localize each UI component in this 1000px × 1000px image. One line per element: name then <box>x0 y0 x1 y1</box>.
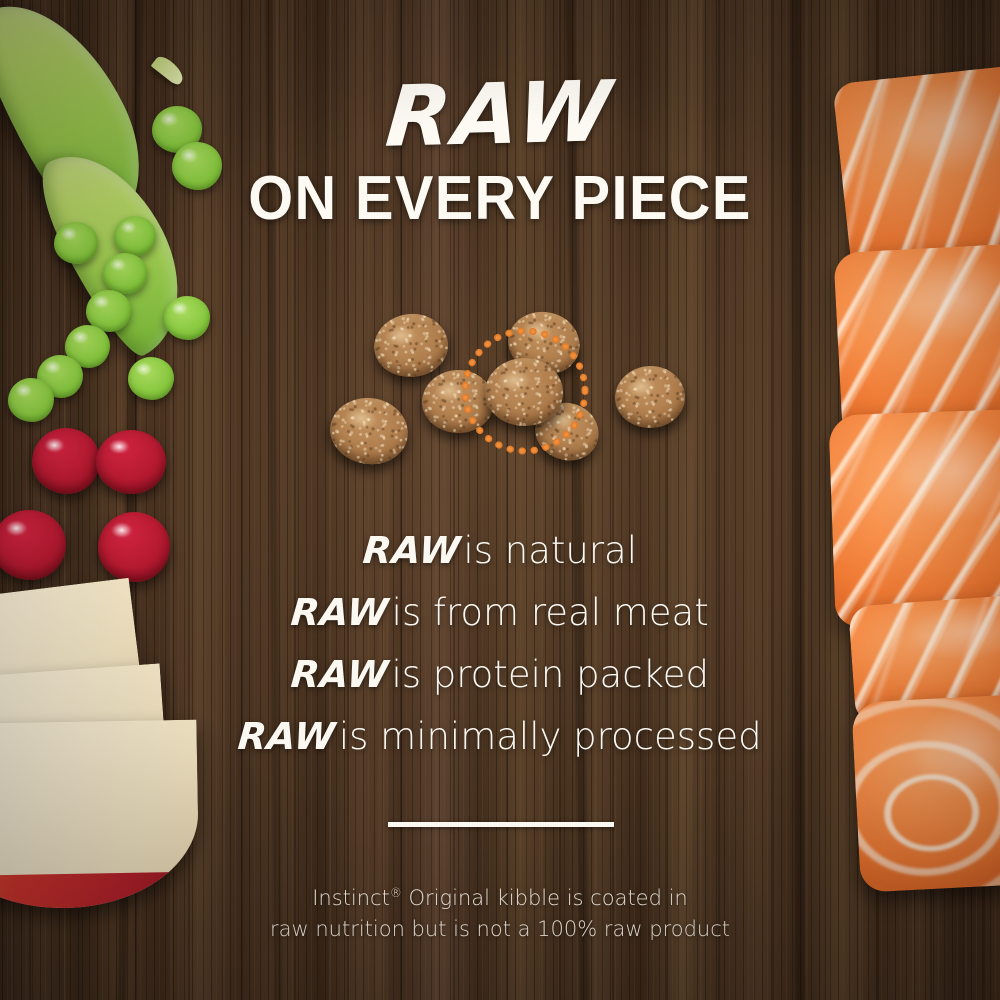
vignette-overlay <box>0 0 1000 1000</box>
product-feature-graphic: RAW ON EVERY PIECE RAWis natural RAWis f… <box>0 0 1000 1000</box>
